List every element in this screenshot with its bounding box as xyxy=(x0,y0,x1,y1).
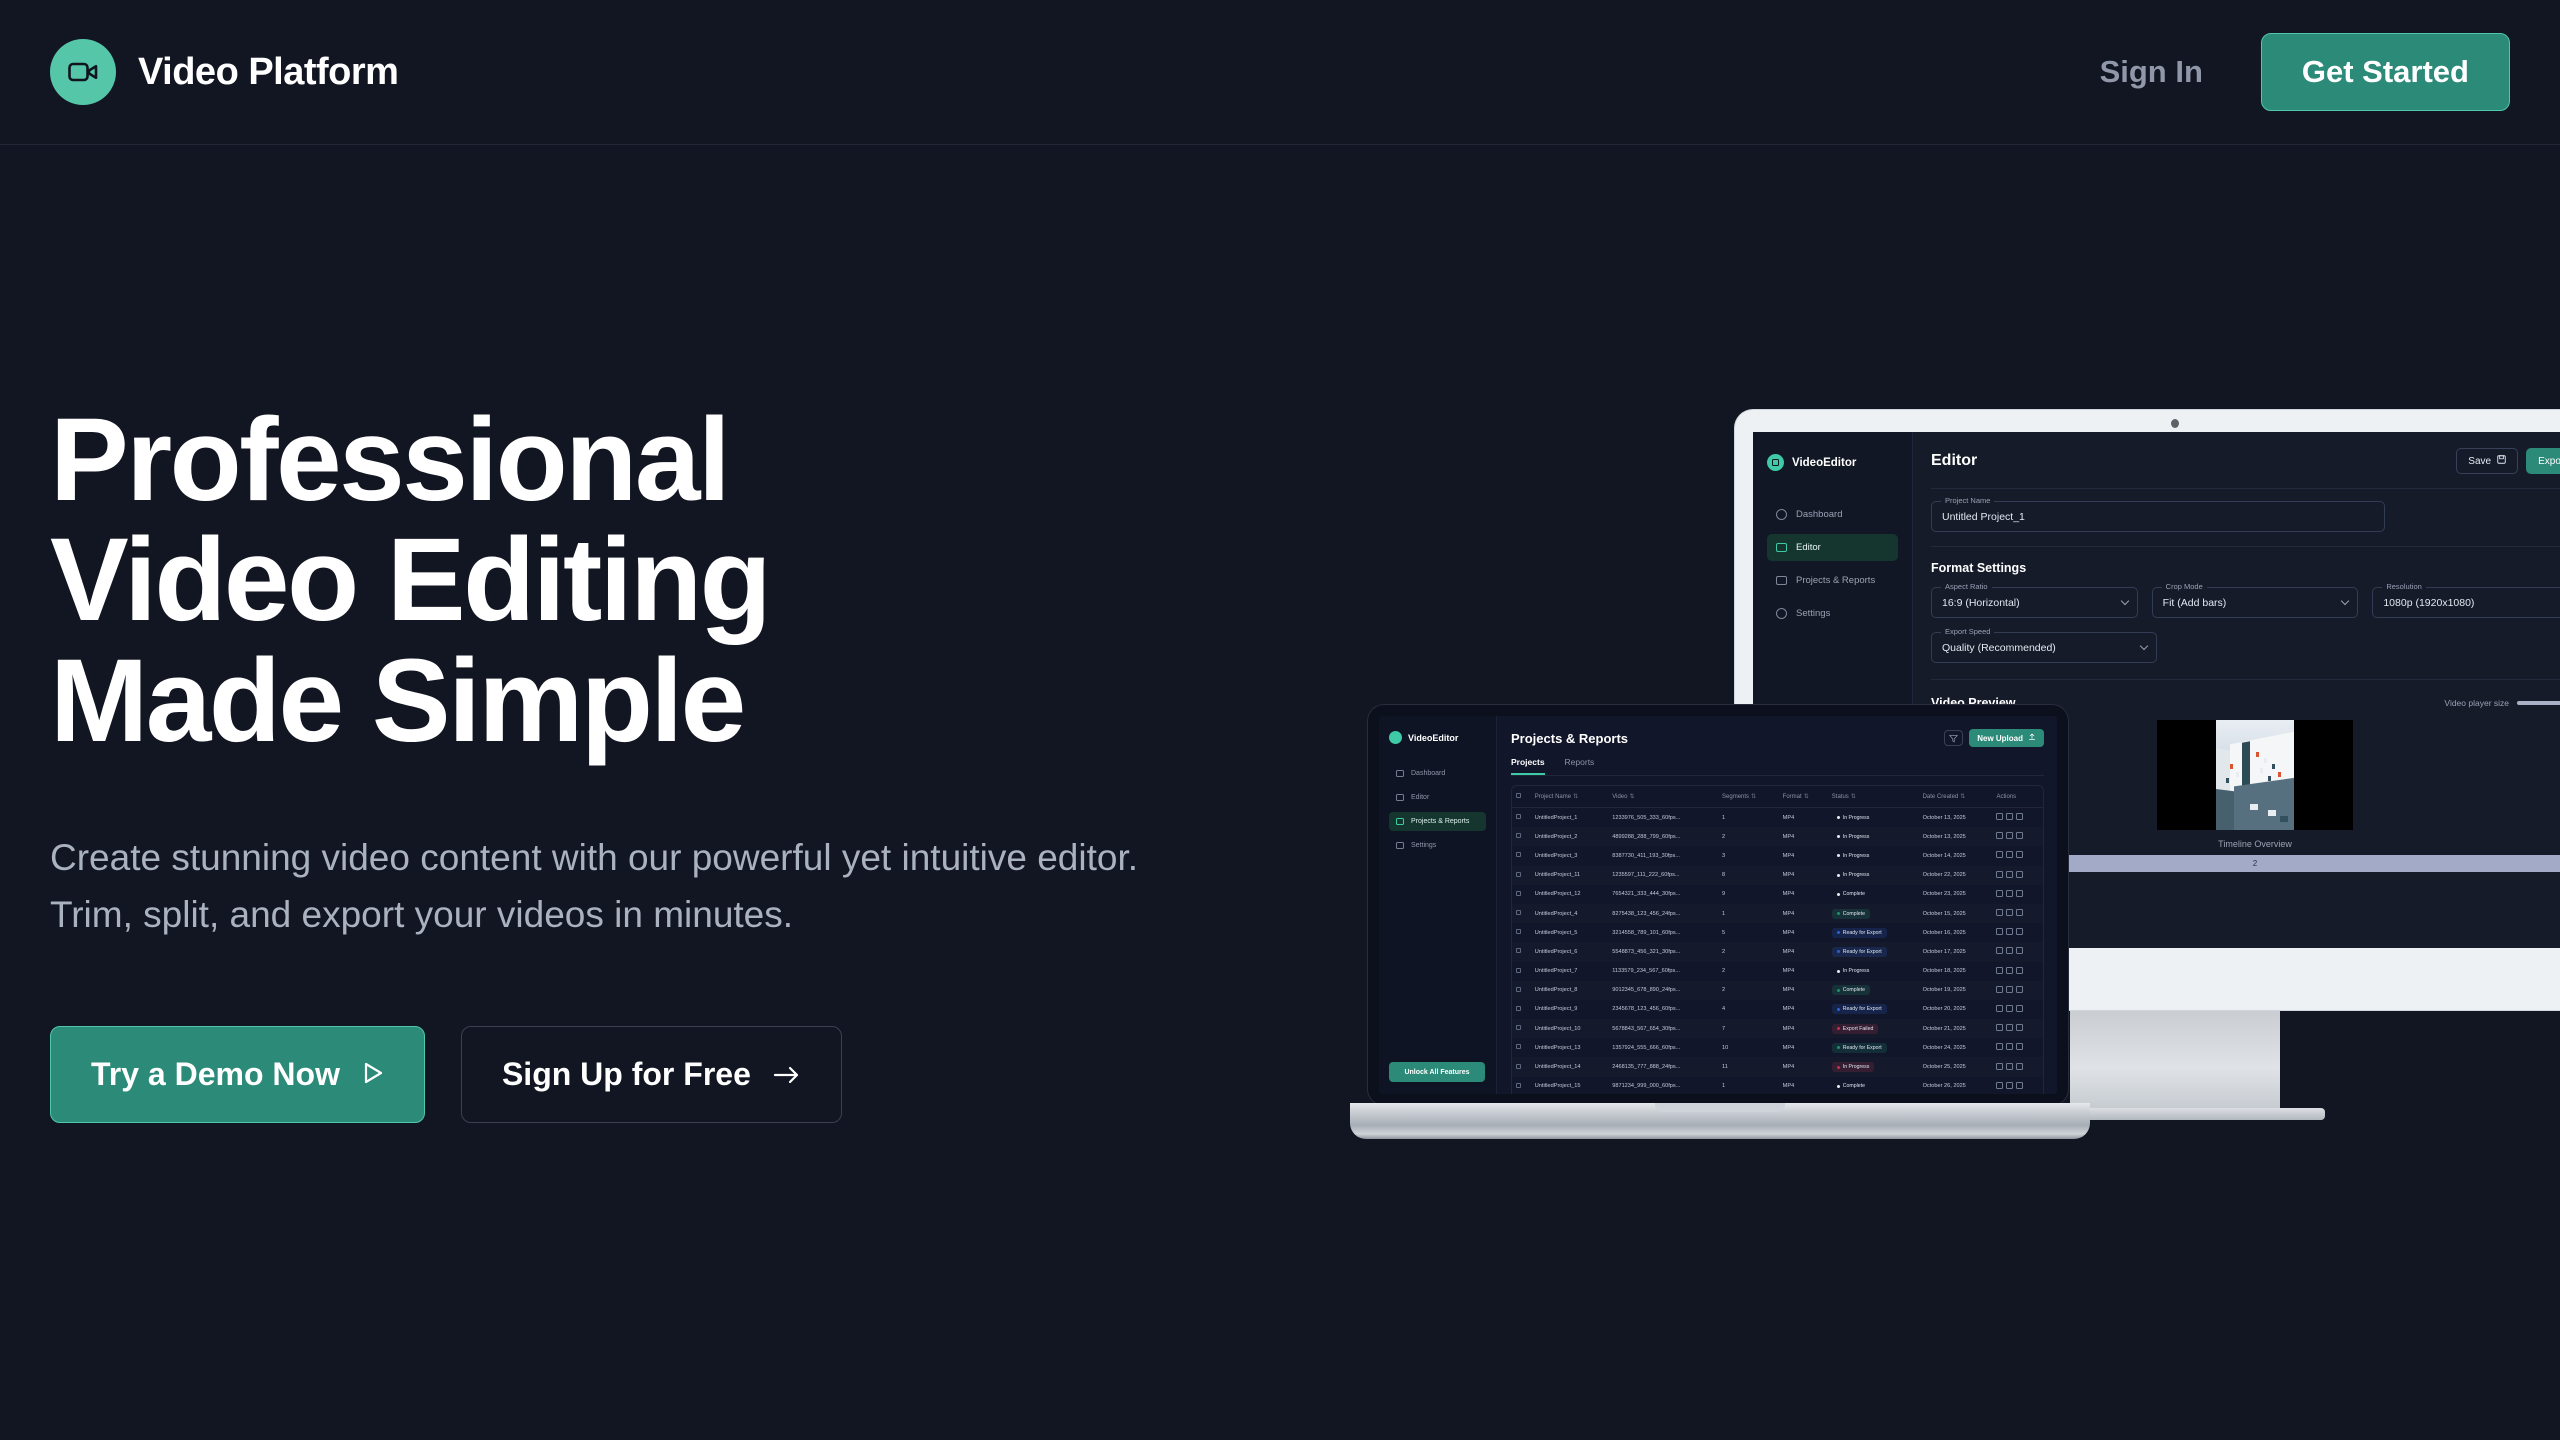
sidebar-item-label: Projects & Reports xyxy=(1411,818,1469,825)
unlock-all-features-button[interactable]: Unlock All Features xyxy=(1389,1062,1485,1082)
edit-icon[interactable] xyxy=(1996,1024,2003,1031)
download-icon[interactable] xyxy=(2006,1005,2013,1012)
delete-icon[interactable] xyxy=(2016,928,2023,935)
row-actions[interactable] xyxy=(1996,813,2023,820)
status-badge: In Progress xyxy=(1832,832,1875,842)
laptop-notch xyxy=(1655,1103,1785,1112)
cell-status: Ready for Export xyxy=(1828,942,1919,961)
projects-header: Projects & Reports New Upload xyxy=(1511,729,2044,747)
cell-project-name: UntitledProject_11 xyxy=(1531,866,1608,885)
edit-icon[interactable] xyxy=(1996,890,2003,897)
hero-heading-line-1: Professional xyxy=(50,394,728,526)
editor-brand-label: VideoEditor xyxy=(1792,457,1856,469)
column-header[interactable]: Status⇅ xyxy=(1828,786,1919,808)
timeline-value: 2 xyxy=(2253,859,2257,868)
table-row[interactable]: UntitledProject_105678843_567_654_30fps.… xyxy=(1512,1019,2043,1038)
table-row[interactable]: UntitledProject_53214558_789_101_60fps..… xyxy=(1512,923,2043,942)
edit-icon[interactable] xyxy=(1996,1043,2003,1050)
laptop-mockup: VideoEditor Dashboard Editor Projec xyxy=(1350,705,2090,1145)
table-row[interactable]: UntitledProject_24899288_288_799_60fps..… xyxy=(1512,827,2043,846)
row-checkbox[interactable] xyxy=(1516,872,1521,877)
download-icon[interactable] xyxy=(2006,890,2013,897)
cell-date-created: October 23, 2025 xyxy=(1919,885,1993,904)
video-camera-glyph xyxy=(68,61,98,83)
cell-project-name: UntitledProject_8 xyxy=(1531,981,1608,1000)
cell-actions[interactable] xyxy=(1992,846,2043,865)
cell-date-created: October 21, 2025 xyxy=(1919,1019,1993,1038)
cell-status: Complete xyxy=(1828,981,1919,1000)
webcam-icon xyxy=(2171,419,2179,428)
cell-status: Ready for Export xyxy=(1828,1000,1919,1019)
cell-date-created: October 19, 2025 xyxy=(1919,981,1993,1000)
table-row[interactable]: UntitledProject_159871234_999_000_60fps.… xyxy=(1512,1077,2043,1094)
cell-status: In Progress xyxy=(1828,962,1919,981)
save-label: Save xyxy=(2468,456,2491,467)
status-badge: Complete xyxy=(1832,1081,1870,1091)
row-actions[interactable] xyxy=(1996,986,2023,993)
resolution-value: 1080p (1920x1080) xyxy=(2383,597,2474,609)
monitor-stand-neck xyxy=(2070,1010,2280,1115)
sign-in-link[interactable]: Sign In xyxy=(2100,54,2203,90)
cell-date-created: October 17, 2025 xyxy=(1919,942,1993,961)
delete-icon[interactable] xyxy=(2016,813,2023,820)
delete-icon[interactable] xyxy=(2016,890,2023,897)
table-header-row: Project Name⇅Video⇅Segments⇅Format⇅Statu… xyxy=(1512,786,2043,808)
row-checkbox-cell[interactable] xyxy=(1512,942,1531,961)
download-icon[interactable] xyxy=(2006,871,2013,878)
tab-reports[interactable]: Reports xyxy=(1565,757,1595,775)
row-actions[interactable] xyxy=(1996,1082,2023,1089)
player-size-slider[interactable]: Video player size xyxy=(2444,698,2560,708)
folder-icon xyxy=(1396,818,1404,825)
table-row[interactable]: UntitledProject_111235597_111_222_60fps.… xyxy=(1512,866,2043,885)
filter-funnel-icon[interactable] xyxy=(1944,730,1963,746)
cell-actions[interactable] xyxy=(1992,1077,2043,1094)
row-checkbox-cell[interactable] xyxy=(1512,962,1531,981)
sidebar-item-settings[interactable]: Settings xyxy=(1389,836,1486,855)
aspect-ratio-value: 16:9 (Horizontal) xyxy=(1942,597,2020,609)
cell-format: MP4 xyxy=(1779,1057,1828,1076)
cell-project-name: UntitledProject_14 xyxy=(1531,1057,1608,1076)
column-header[interactable]: Format⇅ xyxy=(1779,786,1828,808)
row-checkbox[interactable] xyxy=(1516,910,1521,915)
resolution-select[interactable]: Resolution 1080p (1920x1080) xyxy=(2372,587,2560,618)
chevron-down-icon xyxy=(2120,596,2128,604)
editor-logo-icon xyxy=(1767,454,1784,471)
cell-date-created: October 14, 2025 xyxy=(1919,846,1993,865)
status-badge: In Progress xyxy=(1832,813,1875,823)
download-icon[interactable] xyxy=(2006,1063,2013,1070)
cell-segments: 1 xyxy=(1718,1077,1779,1094)
sort-icon[interactable]: ⇅ xyxy=(1851,793,1856,800)
cell-format: MP4 xyxy=(1779,981,1828,1000)
crop-mode-value: Fit (Add bars) xyxy=(2163,597,2227,609)
table-row[interactable]: UntitledProject_142468135_777_888_24fps.… xyxy=(1512,1057,2043,1076)
cell-date-created: October 16, 2025 xyxy=(1919,923,1993,942)
row-actions[interactable] xyxy=(1996,1005,2023,1012)
row-checkbox-cell[interactable] xyxy=(1512,827,1531,846)
hero-subtitle: Create stunning video content with our p… xyxy=(50,829,1140,944)
cell-actions[interactable] xyxy=(1992,1057,2043,1076)
delete-icon[interactable] xyxy=(2016,851,2023,858)
cell-project-name: UntitledProject_10 xyxy=(1531,1019,1608,1038)
column-select-all[interactable] xyxy=(1512,786,1531,808)
delete-icon[interactable] xyxy=(2016,1024,2023,1031)
row-checkbox[interactable] xyxy=(1516,852,1521,857)
sidebar-item-label: Projects & Reports xyxy=(1796,575,1875,586)
editor-brand: VideoEditor xyxy=(1767,454,1898,471)
column-header[interactable]: Segments⇅ xyxy=(1718,786,1779,808)
status-dot xyxy=(1837,835,1840,838)
row-checkbox[interactable] xyxy=(1516,948,1521,953)
tab-projects[interactable]: Projects xyxy=(1511,757,1545,775)
download-icon[interactable] xyxy=(2006,967,2013,974)
try-demo-label: Try a Demo Now xyxy=(91,1056,340,1093)
video-player[interactable] xyxy=(2157,720,2353,830)
cell-actions[interactable] xyxy=(1992,923,2043,942)
row-actions[interactable] xyxy=(1996,832,2023,839)
cell-video: 4899288_288_799_60fps... xyxy=(1608,827,1718,846)
row-checkbox[interactable] xyxy=(1516,987,1521,992)
download-icon[interactable] xyxy=(2006,1082,2013,1089)
row-checkbox-cell[interactable] xyxy=(1512,904,1531,923)
brand-logo-group[interactable]: Video Platform xyxy=(50,39,398,105)
delete-icon[interactable] xyxy=(2016,1082,2023,1089)
status-badge: In Progress xyxy=(1832,870,1875,880)
download-icon[interactable] xyxy=(2006,909,2013,916)
folder-icon xyxy=(1776,576,1787,585)
row-checkbox[interactable] xyxy=(1516,1025,1521,1030)
cell-segments: 1 xyxy=(1718,808,1779,828)
row-checkbox[interactable] xyxy=(1516,833,1521,838)
table-body: UntitledProject_11233976_505_333_60fps..… xyxy=(1512,808,2043,1095)
row-checkbox-cell[interactable] xyxy=(1512,1000,1531,1019)
sidebar-item-editor[interactable]: Editor xyxy=(1767,534,1898,561)
sidebar-item-editor[interactable]: Editor xyxy=(1389,788,1486,807)
table-row[interactable]: UntitledProject_48275438_123_456_24fps..… xyxy=(1512,904,2043,923)
editor-logo-icon xyxy=(1389,731,1402,744)
cell-project-name: UntitledProject_1 xyxy=(1531,808,1608,828)
cell-segments: 2 xyxy=(1718,942,1779,961)
cell-status: Ready for Export xyxy=(1828,1038,1919,1057)
row-checkbox[interactable] xyxy=(1516,814,1521,819)
row-actions[interactable] xyxy=(1996,851,2023,858)
row-actions[interactable] xyxy=(1996,909,2023,916)
cell-format: MP4 xyxy=(1779,1077,1828,1094)
row-checkbox[interactable] xyxy=(1516,929,1521,934)
cell-actions[interactable] xyxy=(1992,866,2043,885)
edit-icon[interactable] xyxy=(1996,851,2003,858)
download-icon[interactable] xyxy=(2006,1043,2013,1050)
sidebar-item-label: Editor xyxy=(1411,794,1429,801)
projects-brand-label: VideoEditor xyxy=(1408,733,1458,743)
cell-actions[interactable] xyxy=(1992,981,2043,1000)
select-all-checkbox[interactable] xyxy=(1516,793,1521,798)
divider xyxy=(1931,488,2560,489)
sidebar-item-settings[interactable]: Settings xyxy=(1767,600,1898,627)
edit-icon[interactable] xyxy=(1996,813,2003,820)
cell-actions[interactable] xyxy=(1992,962,2043,981)
crop-mode-select[interactable]: Crop Mode Fit (Add bars) xyxy=(2152,587,2359,618)
status-dot xyxy=(1837,1066,1840,1069)
site-header: Video Platform Sign In Get Started xyxy=(0,0,2560,145)
delete-icon[interactable] xyxy=(2016,832,2023,839)
download-icon[interactable] xyxy=(2006,928,2013,935)
cell-status: Export Failed xyxy=(1828,1019,1919,1038)
aspect-ratio-label: Aspect Ratio xyxy=(1941,582,1992,591)
hero-heading-line-3: Made Simple xyxy=(50,635,744,767)
cell-project-name: UntitledProject_2 xyxy=(1531,827,1608,846)
gear-icon xyxy=(1396,842,1404,849)
edit-icon[interactable] xyxy=(1996,986,2003,993)
sign-up-free-button[interactable]: Sign Up for Free xyxy=(461,1026,842,1123)
column-header[interactable]: Actions xyxy=(1992,786,2043,808)
export-button[interactable]: Export xyxy=(2526,448,2560,474)
sidebar-item-projects-reports[interactable]: Projects & Reports xyxy=(1389,812,1486,831)
projects-brand: VideoEditor xyxy=(1389,731,1486,744)
cell-actions[interactable] xyxy=(1992,904,2043,923)
sidebar-item-dashboard[interactable]: Dashboard xyxy=(1767,501,1898,528)
cell-video: 2468135_777_888_24fps... xyxy=(1608,1057,1718,1076)
divider xyxy=(1931,679,2560,680)
editor-toolbar-buttons: Save Export xyxy=(2456,448,2560,474)
status-badge: Ready for Export xyxy=(1832,1043,1887,1053)
cell-project-name: UntitledProject_13 xyxy=(1531,1038,1608,1057)
column-header[interactable]: Video⇅ xyxy=(1608,786,1718,808)
edit-icon[interactable] xyxy=(1996,928,2003,935)
projects-main-panel: Projects & Reports New Upload xyxy=(1497,716,2057,1094)
project-name-field[interactable]: Project Name Untitled Project_1 xyxy=(1931,501,2385,532)
cell-actions[interactable] xyxy=(1992,885,2043,904)
sort-icon[interactable]: ⇅ xyxy=(1573,793,1578,800)
status-dot xyxy=(1837,1085,1840,1088)
row-checkbox[interactable] xyxy=(1516,1006,1521,1011)
download-icon[interactable] xyxy=(2006,1024,2013,1031)
cell-status: In Progress xyxy=(1828,827,1919,846)
row-actions[interactable] xyxy=(1996,928,2023,935)
edit-icon[interactable] xyxy=(1996,947,2003,954)
delete-icon[interactable] xyxy=(2016,947,2023,954)
row-checkbox-cell[interactable] xyxy=(1512,846,1531,865)
table-row[interactable]: UntitledProject_71133579_234_567_60fps..… xyxy=(1512,962,2043,981)
download-icon[interactable] xyxy=(2006,832,2013,839)
cell-project-name: UntitledProject_3 xyxy=(1531,846,1608,865)
format-fields-row-2: Export Speed Quality (Recommended) xyxy=(1931,632,2560,663)
row-actions[interactable] xyxy=(1996,1063,2023,1070)
cell-format: MP4 xyxy=(1779,962,1828,981)
cell-project-name: UntitledProject_6 xyxy=(1531,942,1608,961)
cell-date-created: October 25, 2025 xyxy=(1919,1057,1993,1076)
player-size-label: Video player size xyxy=(2444,698,2509,708)
export-speed-value: Quality (Recommended) xyxy=(1942,642,2056,654)
table-row[interactable]: UntitledProject_89012345_678_890_24fps..… xyxy=(1512,981,2043,1000)
play-triangle-icon xyxy=(362,1056,384,1093)
cell-format: MP4 xyxy=(1779,942,1828,961)
row-actions[interactable] xyxy=(1996,967,2023,974)
cell-actions[interactable] xyxy=(1992,1019,2043,1038)
status-badge: Complete xyxy=(1832,985,1870,995)
sidebar-item-label: Settings xyxy=(1796,608,1830,619)
sort-icon[interactable]: ⇅ xyxy=(1804,793,1809,800)
new-upload-button[interactable]: New Upload xyxy=(1969,729,2044,747)
projects-header-actions: New Upload xyxy=(1944,729,2044,747)
cell-actions[interactable] xyxy=(1992,1000,2043,1019)
column-header[interactable]: Project Name⇅ xyxy=(1531,786,1608,808)
table-row[interactable]: UntitledProject_38387730_411_193_30fps..… xyxy=(1512,846,2043,865)
cell-status: Complete xyxy=(1828,904,1919,923)
hero-heading-line-2: Video Editing xyxy=(50,514,769,646)
delete-icon[interactable] xyxy=(2016,1063,2023,1070)
delete-icon[interactable] xyxy=(2016,986,2023,993)
row-checkbox[interactable] xyxy=(1516,1044,1521,1049)
aspect-ratio-select[interactable]: Aspect Ratio 16:9 (Horizontal) xyxy=(1931,587,2138,618)
row-checkbox-cell[interactable] xyxy=(1512,866,1531,885)
video-camera-icon xyxy=(50,39,116,105)
cell-format: MP4 xyxy=(1779,885,1828,904)
chevron-down-icon xyxy=(2140,641,2148,649)
save-button[interactable]: Save xyxy=(2456,448,2518,474)
cell-date-created: October 15, 2025 xyxy=(1919,904,1993,923)
edit-icon[interactable] xyxy=(1996,832,2003,839)
row-actions[interactable] xyxy=(1996,1043,2023,1050)
project-name-label: Project Name xyxy=(1941,496,1994,505)
row-checkbox[interactable] xyxy=(1516,1064,1521,1069)
sidebar-item-dashboard[interactable]: Dashboard xyxy=(1389,764,1486,783)
status-badge: Ready for Export xyxy=(1832,947,1887,957)
status-dot xyxy=(1837,931,1840,934)
status-badge: In Progress xyxy=(1832,851,1875,861)
gauge-icon xyxy=(1396,770,1404,777)
cell-status: In Progress xyxy=(1828,1057,1919,1076)
cell-actions[interactable] xyxy=(1992,808,2043,828)
row-checkbox-cell[interactable] xyxy=(1512,1057,1531,1076)
cell-video: 2345678_123_456_60fps... xyxy=(1608,1000,1718,1019)
download-icon[interactable] xyxy=(2006,986,2013,993)
new-upload-label: New Upload xyxy=(1977,734,2023,743)
row-actions[interactable] xyxy=(1996,871,2023,878)
cell-segments: 7 xyxy=(1718,1019,1779,1038)
sign-up-free-label: Sign Up for Free xyxy=(502,1056,751,1093)
projects-sidebar: VideoEditor Dashboard Editor Projec xyxy=(1379,716,1497,1094)
cell-actions[interactable] xyxy=(1992,827,2043,846)
delete-icon[interactable] xyxy=(2016,1005,2023,1012)
projects-tabs: Projects Reports xyxy=(1511,757,2044,776)
sort-icon[interactable]: ⇅ xyxy=(1751,793,1756,800)
sort-icon[interactable]: ⇅ xyxy=(1629,793,1634,800)
column-header[interactable]: Date Created⇅ xyxy=(1919,786,1993,808)
cell-date-created: October 18, 2025 xyxy=(1919,962,1993,981)
video-camera-icon xyxy=(1776,543,1787,552)
cell-segments: 9 xyxy=(1718,885,1779,904)
row-checkbox[interactable] xyxy=(1516,1083,1521,1088)
cell-status: Complete xyxy=(1828,1077,1919,1094)
cell-date-created: October 20, 2025 xyxy=(1919,1000,1993,1019)
delete-icon[interactable] xyxy=(2016,871,2023,878)
row-checkbox-cell[interactable] xyxy=(1512,1077,1531,1094)
project-name-value: Untitled Project_1 xyxy=(1942,511,2025,523)
download-icon[interactable] xyxy=(2006,813,2013,820)
row-checkbox-cell[interactable] xyxy=(1512,885,1531,904)
status-badge: In Progress xyxy=(1832,966,1875,976)
row-checkbox-cell[interactable] xyxy=(1512,981,1531,1000)
cell-format: MP4 xyxy=(1779,1038,1828,1057)
row-checkbox-cell[interactable] xyxy=(1512,1019,1531,1038)
cell-segments: 2 xyxy=(1718,827,1779,846)
cell-segments: 3 xyxy=(1718,846,1779,865)
brand-name: Video Platform xyxy=(138,51,398,94)
row-actions[interactable] xyxy=(1996,947,2023,954)
table-row[interactable]: UntitledProject_92345678_123_456_60fps..… xyxy=(1512,1000,2043,1019)
edit-icon[interactable] xyxy=(1996,1063,2003,1070)
download-icon[interactable] xyxy=(2006,947,2013,954)
status-dot xyxy=(1837,970,1840,973)
row-actions[interactable] xyxy=(1996,1024,2023,1031)
cell-segments: 2 xyxy=(1718,981,1779,1000)
slider-track[interactable] xyxy=(2517,701,2560,705)
delete-icon[interactable] xyxy=(2016,967,2023,974)
edit-icon[interactable] xyxy=(1996,909,2003,916)
cell-format: MP4 xyxy=(1779,1019,1828,1038)
get-started-button[interactable]: Get Started xyxy=(2261,33,2510,111)
export-speed-select[interactable]: Export Speed Quality (Recommended) xyxy=(1931,632,2157,663)
table-row[interactable]: UntitledProject_131357924_555_666_60fps.… xyxy=(1512,1038,2043,1057)
status-badge: Export Failed xyxy=(1832,1024,1879,1034)
cell-status: In Progress xyxy=(1828,866,1919,885)
cell-actions[interactable] xyxy=(1992,1038,2043,1057)
download-icon[interactable] xyxy=(2006,851,2013,858)
delete-icon[interactable] xyxy=(2016,909,2023,916)
status-dot xyxy=(1837,912,1840,915)
cell-project-name: UntitledProject_5 xyxy=(1531,923,1608,942)
sort-icon[interactable]: ⇅ xyxy=(1960,793,1965,800)
table-row[interactable]: UntitledProject_127654321_333_444_30fps.… xyxy=(1512,885,2043,904)
cell-date-created: October 13, 2025 xyxy=(1919,827,1993,846)
edit-icon[interactable] xyxy=(1996,1005,2003,1012)
row-checkbox-cell[interactable] xyxy=(1512,808,1531,828)
cell-format: MP4 xyxy=(1779,866,1828,885)
cell-video: 1233976_505_333_60fps... xyxy=(1608,808,1718,828)
delete-icon[interactable] xyxy=(2016,1043,2023,1050)
status-dot xyxy=(1837,854,1840,857)
cell-video: 9871234_999_000_60fps... xyxy=(1608,1077,1718,1094)
cell-segments: 8 xyxy=(1718,866,1779,885)
status-dot xyxy=(1837,1046,1840,1049)
edit-icon[interactable] xyxy=(1996,967,2003,974)
cell-video: 1357924_555_666_60fps... xyxy=(1608,1038,1718,1057)
cell-status: Ready for Export xyxy=(1828,923,1919,942)
sidebar-item-projects-reports[interactable]: Projects & Reports xyxy=(1767,567,1898,594)
status-dot xyxy=(1837,950,1840,953)
row-checkbox-cell[interactable] xyxy=(1512,1038,1531,1057)
gear-icon xyxy=(1776,608,1787,619)
edit-icon[interactable] xyxy=(1996,871,2003,878)
status-dot xyxy=(1837,816,1840,819)
table-row[interactable]: UntitledProject_65548873_456_321_30fps..… xyxy=(1512,942,2043,961)
cell-video: 5548873_456_321_30fps... xyxy=(1608,942,1718,961)
cell-actions[interactable] xyxy=(1992,942,2043,961)
row-actions[interactable] xyxy=(1996,890,2023,897)
cell-segments: 5 xyxy=(1718,923,1779,942)
table-row[interactable]: UntitledProject_11233976_505_333_60fps..… xyxy=(1512,808,2043,828)
format-fields-row-1: Aspect Ratio 16:9 (Horizontal) Crop Mode… xyxy=(1931,587,2560,618)
status-badge: Ready for Export xyxy=(1832,1004,1887,1014)
row-checkbox[interactable] xyxy=(1516,891,1521,896)
try-demo-button[interactable]: Try a Demo Now xyxy=(50,1026,425,1123)
arrow-right-icon xyxy=(773,1056,801,1093)
row-checkbox-cell[interactable] xyxy=(1512,923,1531,942)
edit-icon[interactable] xyxy=(1996,1082,2003,1089)
row-checkbox[interactable] xyxy=(1516,968,1521,973)
